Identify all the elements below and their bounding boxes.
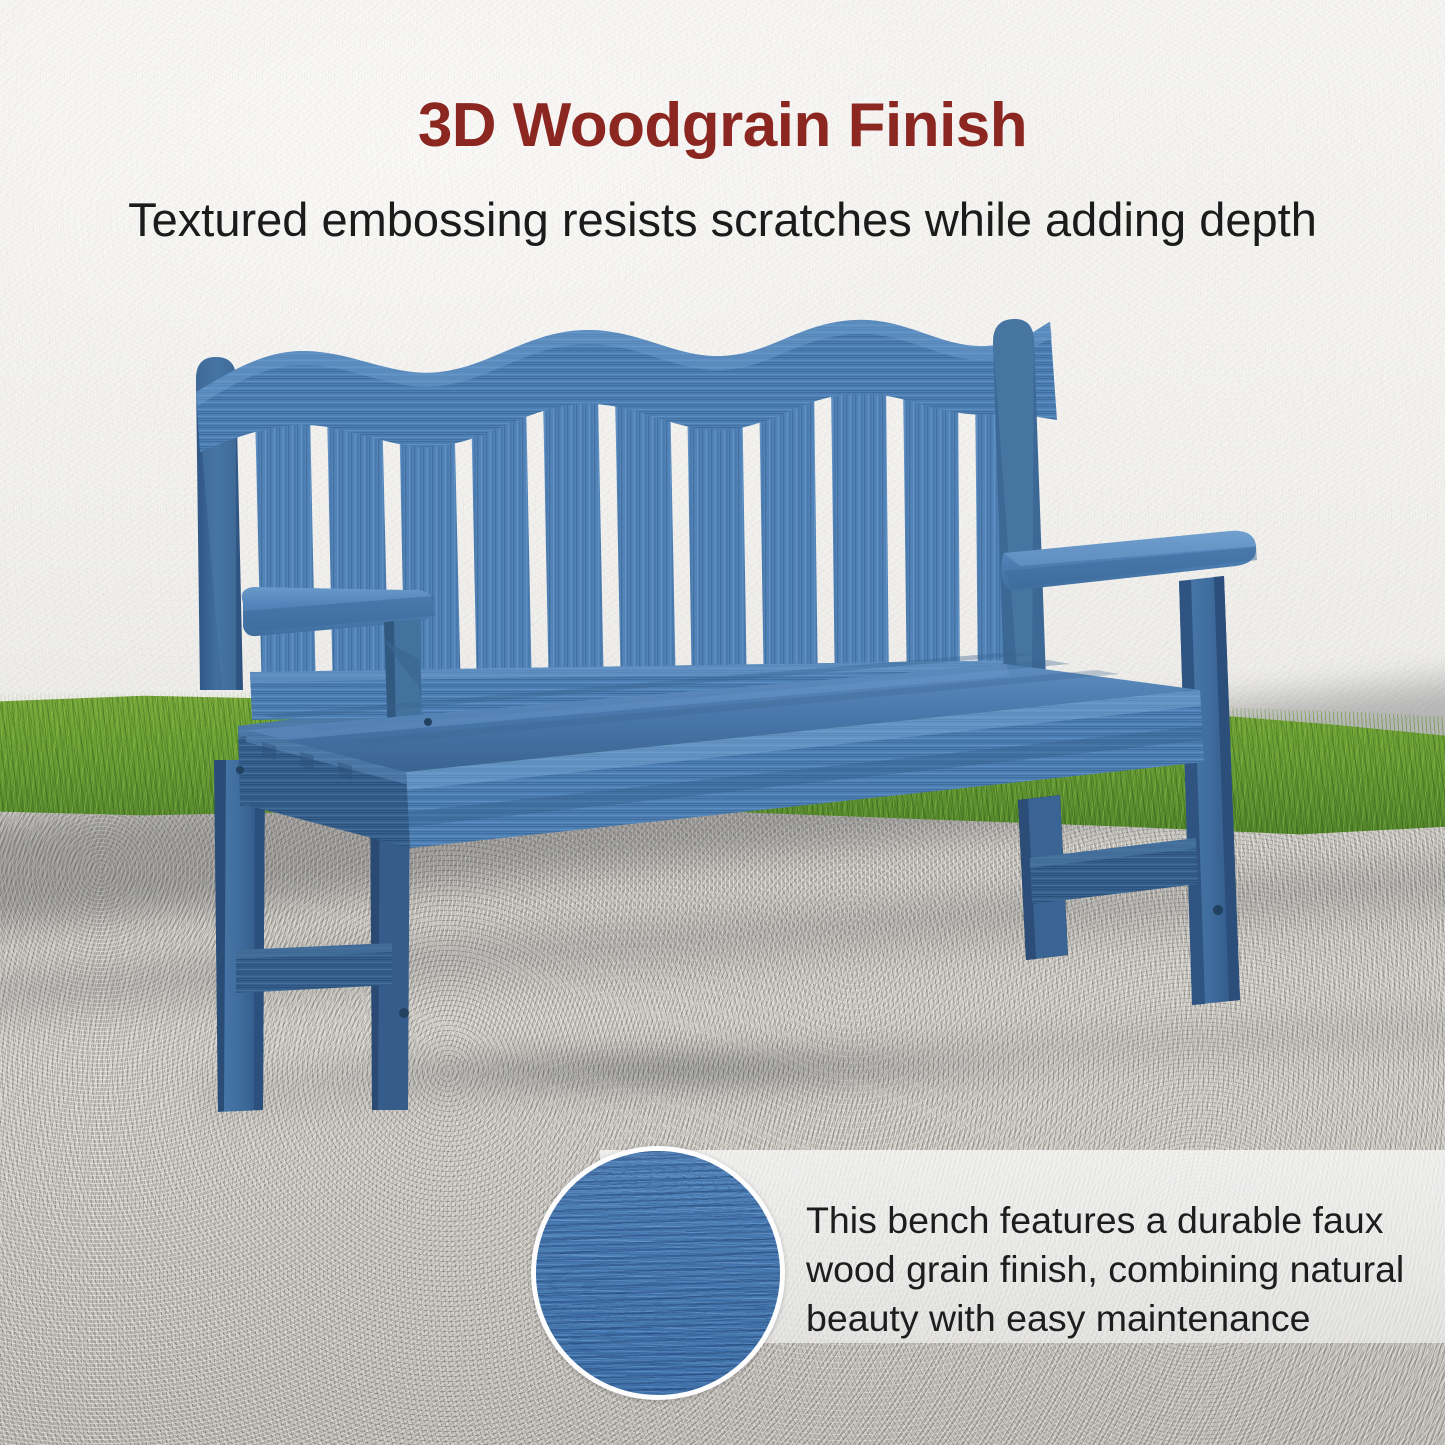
product-feature-image: 3D Woodgrain Finish Textured embossing r… xyxy=(0,0,1445,1445)
screw-head-left xyxy=(399,1008,409,1018)
page-title: 3D Woodgrain Finish xyxy=(0,95,1445,157)
screw-head-arm-post xyxy=(424,718,432,726)
swatch-grain-knots xyxy=(536,1151,780,1395)
caption-text: This bench features a durable faux wood … xyxy=(806,1196,1416,1343)
page-subtitle: Textured embossing resists scratches whi… xyxy=(0,196,1445,243)
woodgrain-swatch xyxy=(531,1146,785,1400)
swatch-woodgrain-closeup xyxy=(536,1151,780,1395)
screw-head-left-apron xyxy=(236,766,244,774)
bench-right-arm-post xyxy=(1179,576,1240,1005)
bench-left-front-leg xyxy=(214,760,265,1112)
bench-left-stretcher xyxy=(236,943,392,993)
screw-head-right xyxy=(1213,905,1223,915)
